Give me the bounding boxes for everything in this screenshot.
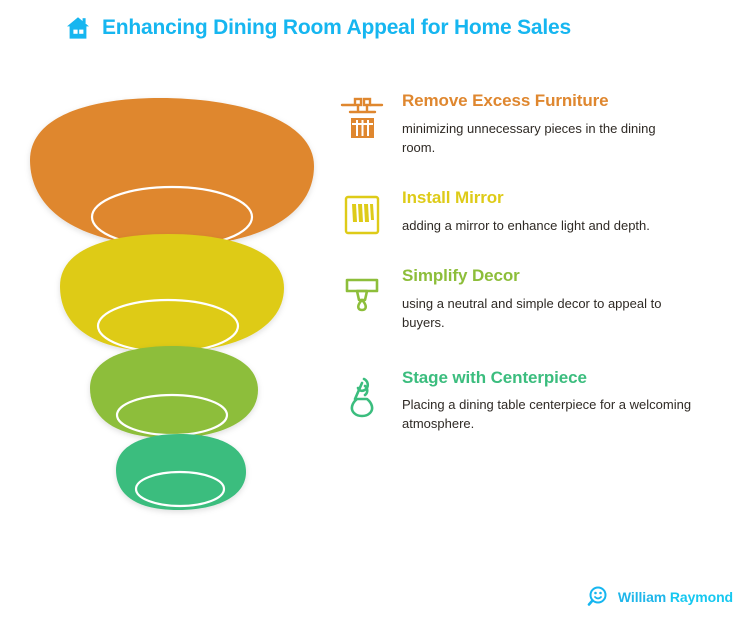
step-2-text: Install Mirror adding a mirror to enhanc… [402,189,736,236]
header: Enhancing Dining Room Appeal for Home Sa… [64,14,571,42]
step-item-3: Simplify Decor using a neutral and simpl… [336,267,736,332]
step-4-text: Stage with Centerpiece Placing a dining … [402,369,736,434]
step-4-icon-wrap [336,369,388,425]
funnel-stage-4 [116,434,246,510]
brand-name-part2: Raymond [670,589,733,605]
brand-footer: William Raymond [587,585,733,609]
furniture-table-icon [340,96,384,144]
step-1-text: Remove Excess Furniture minimizing unnec… [402,92,736,157]
funnel-chart [8,88,338,518]
funnel-stage-1 [30,98,314,247]
step-4-title: Stage with Centerpiece [402,369,736,388]
step-3-text: Simplify Decor using a neutral and simpl… [402,267,736,332]
step-4-description: Placing a dining table centerpiece for a… [402,396,692,434]
magnifier-smile-icon [587,585,611,609]
brand-name: William Raymond [618,589,733,605]
step-item-1: Remove Excess Furniture minimizing unnec… [336,92,736,157]
page-title: Enhancing Dining Room Appeal for Home Sa… [102,16,571,40]
step-3-description: using a neutral and simple decor to appe… [402,295,692,333]
funnel-stage-3 [90,346,258,438]
vase-plant-icon [340,373,384,425]
mirror-frame-icon [340,193,384,239]
step-3-title: Simplify Decor [402,267,736,286]
brand-name-part1: William [618,589,666,605]
steps-list: Remove Excess Furniture minimizing unnec… [336,92,736,434]
infographic-canvas: Enhancing Dining Room Appeal for Home Sa… [0,0,747,623]
step-1-title: Remove Excess Furniture [402,92,736,111]
step-2-description: adding a mirror to enhance light and dep… [402,217,692,236]
step-item-4: Stage with Centerpiece Placing a dining … [336,369,736,434]
step-2-title: Install Mirror [402,189,736,208]
step-1-icon-wrap [336,92,388,144]
step-item-2: Install Mirror adding a mirror to enhanc… [336,189,736,239]
step-1-description: minimizing unnecessary pieces in the din… [402,120,692,158]
step-3-icon-wrap [336,267,388,319]
paint-brush-icon [340,271,384,319]
home-icon [64,14,92,42]
funnel-stage-2 [60,234,284,352]
step-2-icon-wrap [336,189,388,239]
